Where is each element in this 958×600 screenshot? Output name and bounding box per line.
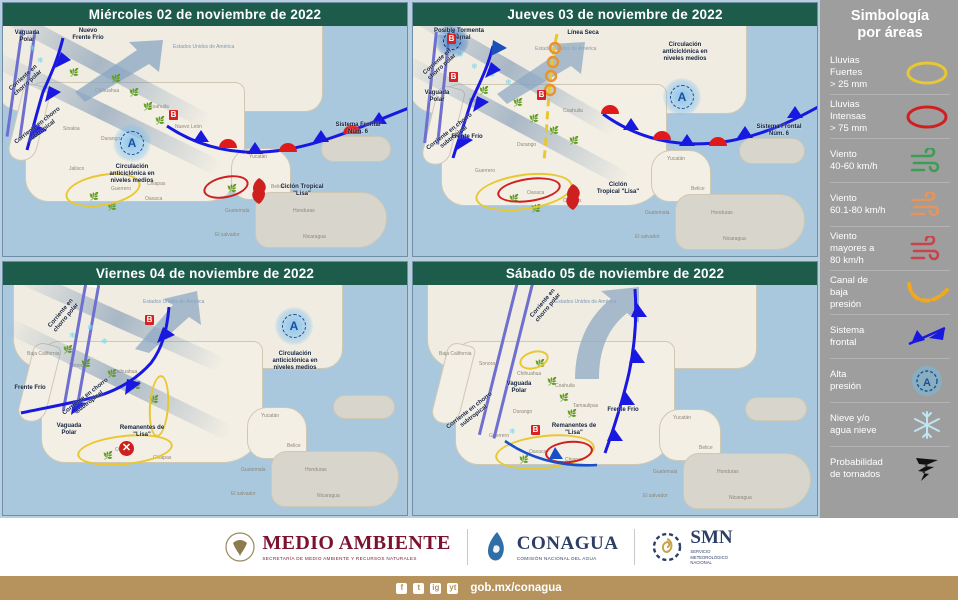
high-pressure-symbol: A — [275, 307, 313, 345]
map-sabado[interactable]: Estados Unidos de América Baja Californi… — [413, 285, 817, 515]
lisa-remnant-symbol: ✕ — [119, 441, 134, 456]
state-label: Oaxaca — [145, 196, 162, 202]
footer-logos: MEDIO AMBIENTE SECRETARÍA DE MEDIO AMBIE… — [0, 518, 958, 576]
state-label: Guatemala — [645, 210, 669, 216]
annotation-circulacion-anticiclonica: Circulación anticiclónica en niveles med… — [97, 164, 167, 185]
twitter-icon[interactable]: t — [413, 583, 424, 594]
annotation-circulacion-anticiclonica: Circulación anticiclónica en niveles med… — [649, 42, 721, 63]
state-label: Belice — [699, 445, 713, 451]
smn-logo: SMN SERVICIO METEOROLÓGICO NACIONAL — [635, 528, 748, 566]
low-pressure-marker: B — [531, 425, 540, 435]
state-label: Yucatán — [673, 415, 691, 421]
panel-jueves[interactable]: Jueves 03 de noviembre de 2022 Estados U… — [412, 2, 818, 257]
legend-label: Viento 40-60 km/h — [830, 149, 904, 173]
state-label: Guatemala — [653, 469, 677, 475]
annotation-vaguada-polar: Vaguada Polar — [415, 90, 459, 104]
facebook-icon[interactable]: f — [396, 583, 407, 594]
forecast-panel-grid: Miércoles 02 de noviembre de 2022 Estado… — [0, 0, 820, 518]
high-pressure-symbol: A — [113, 124, 151, 162]
map-viernes[interactable]: Estados Unidos de América Baja Californi… — [3, 285, 407, 515]
annotation-vaguada-polar: Vaguada Polar — [495, 381, 543, 395]
high-pressure-icon: A — [904, 364, 950, 398]
oval-red-icon — [904, 100, 950, 134]
state-label: El salvador — [643, 493, 668, 499]
legend-item-nieve[interactable]: Nieve y/o agua nieve — [830, 403, 950, 447]
instagram-icon[interactable]: ig — [430, 583, 441, 594]
legend-item-sistema-frontal[interactable]: Sistema frontal — [830, 315, 950, 359]
smn-emblem-icon — [651, 530, 683, 564]
low-pressure-trough-icon — [904, 276, 950, 310]
annotation-frente-frio: Frente Frío — [445, 134, 489, 141]
legend-item-viento-60-80[interactable]: Viento 60.1-80 km/h — [830, 183, 950, 227]
state-label: Coahuila — [555, 383, 575, 389]
legend-item-alta-presion[interactable]: Alta presión A — [830, 359, 950, 403]
panel-miercoles[interactable]: Miércoles 02 de noviembre de 2022 Estado… — [2, 2, 408, 257]
state-label: Belice — [287, 443, 301, 449]
legend-label: Nieve y/o agua nieve — [830, 413, 904, 437]
panel-sabado[interactable]: Sábado 05 de noviembre de 2022 Estados U… — [412, 261, 818, 516]
wind-green-icon — [904, 144, 950, 178]
map-miercoles[interactable]: Estados Unidos de América Chihuahua Coah… — [3, 26, 407, 256]
state-label: Guerrero — [475, 168, 495, 174]
low-pressure-marker: B — [447, 34, 456, 44]
panel-viernes[interactable]: Viernes 04 de noviembre de 2022 Estados … — [2, 261, 408, 516]
state-label: Baja California — [439, 351, 472, 357]
annotation-ciclon-tropical-lisa: Ciclón Tropical "Lisa" — [271, 184, 333, 198]
state-label: Belice — [691, 186, 705, 192]
state-label: Nicaragua — [729, 495, 752, 501]
annotation-remanentes-de-lisa: Remanentes de "Lisa" — [109, 425, 175, 439]
annotation-vaguada-polar: Vaguada Polar — [5, 30, 49, 44]
state-label: Guatemala — [241, 467, 265, 473]
cold-front-icon — [904, 320, 950, 354]
state-label: Nicaragua — [303, 234, 326, 240]
low-pressure-marker: B — [145, 315, 154, 325]
state-label: Honduras — [305, 467, 327, 473]
tornado-icon — [904, 452, 950, 486]
panel-title-viernes: Viernes 04 de noviembre de 2022 — [3, 262, 407, 285]
medio-ambiente-subtitle: SECRETARÍA DE MEDIO AMBIENTE Y RECURSOS … — [262, 556, 450, 561]
medio-ambiente-logo: MEDIO AMBIENTE SECRETARÍA DE MEDIO AMBIE… — [209, 531, 466, 563]
medio-ambiente-title: MEDIO AMBIENTE — [262, 533, 450, 553]
conagua-emblem-icon — [484, 530, 510, 564]
state-label: Guatemala — [225, 208, 249, 214]
low-pressure-marker: B — [169, 110, 178, 120]
forecast-infographic: Miércoles 02 de noviembre de 2022 Estado… — [0, 0, 958, 600]
state-label: Jalisco — [69, 166, 84, 172]
state-label: Sonora — [479, 361, 495, 367]
state-label: El salvador — [215, 232, 240, 238]
state-label: Honduras — [717, 469, 739, 475]
wind-red-icon — [904, 232, 950, 266]
map-jueves[interactable]: Estados Unidos de América Coahuila Duran… — [413, 26, 817, 256]
smn-title: SMN — [690, 528, 732, 547]
wind-orange-icon — [904, 188, 950, 222]
rain-glyph: 🌿 — [567, 409, 577, 418]
state-label: Honduras — [293, 208, 315, 214]
high-pressure-letter: A — [282, 314, 306, 338]
eagle-seal-icon — [225, 531, 255, 563]
high-pressure-letter: A — [670, 85, 694, 109]
conagua-title: CONAGUA — [517, 534, 619, 553]
annotation-frente-frio: Frente Frío — [599, 407, 647, 414]
legend-label: Canal de baja presión — [830, 275, 904, 311]
legend-sidebar: Simbología por áreas Lluvias Fuertes > 2… — [820, 0, 958, 518]
state-label: El salvador — [231, 491, 256, 497]
high-pressure-symbol: A — [663, 78, 701, 116]
legend-label: Lluvias Fuertes > 25 mm — [830, 55, 904, 91]
legend-item-viento-mayores-80[interactable]: Viento mayores a 80 km/h — [830, 227, 950, 271]
legend-label: Viento 60.1-80 km/h — [830, 193, 904, 217]
oval-yellow-icon — [904, 56, 950, 90]
legend-item-tornados[interactable]: Probabilidad de tornados — [830, 447, 950, 491]
rain-glyph: 🌿 — [111, 74, 121, 83]
footer-social-bar: f t ig yt gob.mx/conagua — [0, 576, 958, 600]
tropical-cyclone-icon — [561, 182, 585, 212]
annotation-posible-tormenta-invernal: Posible Tormenta Invernal — [419, 28, 499, 42]
rain-glyph: 🌿 — [143, 102, 153, 111]
annotation-ciclon-tropical-lisa: Ciclón Tropical "Lisa" — [585, 182, 651, 196]
annotation-frente-frio: Frente Frío — [7, 385, 53, 392]
tropical-cyclone-icon — [247, 176, 271, 206]
state-label: Yucatán — [261, 413, 279, 419]
svg-text:A: A — [923, 377, 931, 389]
legend-item-canal-baja-presion[interactable]: Canal de baja presión — [830, 271, 950, 315]
legend-label: Viento mayores a 80 km/h — [830, 231, 904, 267]
youtube-icon[interactable]: yt — [447, 583, 458, 594]
state-label: Nicaragua — [723, 236, 746, 242]
legend-label: Alta presión — [830, 369, 904, 393]
panel-title-jueves: Jueves 03 de noviembre de 2022 — [413, 3, 817, 26]
conagua-subtitle: COMISIÓN NACIONAL DEL AGUA — [517, 556, 619, 561]
landmass-cuba — [333, 395, 395, 419]
panel-title-sabado: Sábado 05 de noviembre de 2022 — [413, 262, 817, 285]
rain-glyph: 🌿 — [559, 393, 569, 402]
annotation-linea-seca: Línea Seca — [559, 30, 607, 37]
legend-item-lluvias-intensas[interactable]: Lluvias Intensas > 75 mm — [830, 95, 950, 139]
frontal-system-6 — [163, 104, 407, 174]
annotation-nuevo-frente-frio: Nuevo Frente Frío — [61, 28, 115, 42]
legend-item-viento-40-60[interactable]: Viento 40-60 km/h — [830, 139, 950, 183]
snowflake-icon — [904, 408, 950, 442]
state-label: Durango — [513, 409, 532, 415]
annotation-sistema-frontal-6: Sistema Frontal Núm. 6 — [749, 124, 809, 138]
legend-label: Probabilidad de tornados — [830, 457, 904, 481]
conagua-logo: CONAGUA COMISIÓN NACIONAL DEL AGUA — [468, 530, 635, 564]
state-label: El salvador — [635, 234, 660, 240]
legend-item-lluvias-fuertes[interactable]: Lluvias Fuertes > 25 mm — [830, 51, 950, 95]
low-pressure-marker: B — [537, 90, 546, 100]
rain-glyph: 🌿 — [547, 377, 557, 386]
state-label: Chihuahua — [517, 371, 541, 377]
annotation-vaguada-polar: Vaguada Polar — [47, 423, 91, 437]
annotation-sistema-frontal-6: Sistema Frontal Núm. 6 — [327, 122, 389, 136]
cold-front-line — [17, 303, 187, 423]
rain-glyph: 🌿 — [129, 88, 139, 97]
legend-label: Sistema frontal — [830, 325, 904, 349]
panel-title-miercoles: Miércoles 02 de noviembre de 2022 — [3, 3, 407, 26]
annotation-circulacion-anticiclonica: Circulación anticiclónica en niveles med… — [259, 351, 331, 372]
footer-url[interactable]: gob.mx/conagua — [470, 582, 561, 594]
secondary-front-line — [501, 435, 621, 485]
legend-label: Lluvias Intensas > 75 mm — [830, 99, 904, 135]
high-pressure-letter: A — [120, 131, 144, 155]
annotation-remanentes-de-lisa: Remanentes de "Lisa" — [541, 423, 607, 437]
legend-title: Simbología por áreas — [830, 8, 950, 41]
low-pressure-marker: B — [449, 72, 458, 82]
state-label: Honduras — [711, 210, 733, 216]
state-label: Estados Unidos de América — [173, 44, 234, 50]
landmass-cuba — [745, 397, 807, 421]
smn-subtitle: SERVICIO METEOROLÓGICO NACIONAL — [690, 549, 732, 566]
state-label: Nicaragua — [317, 493, 340, 499]
